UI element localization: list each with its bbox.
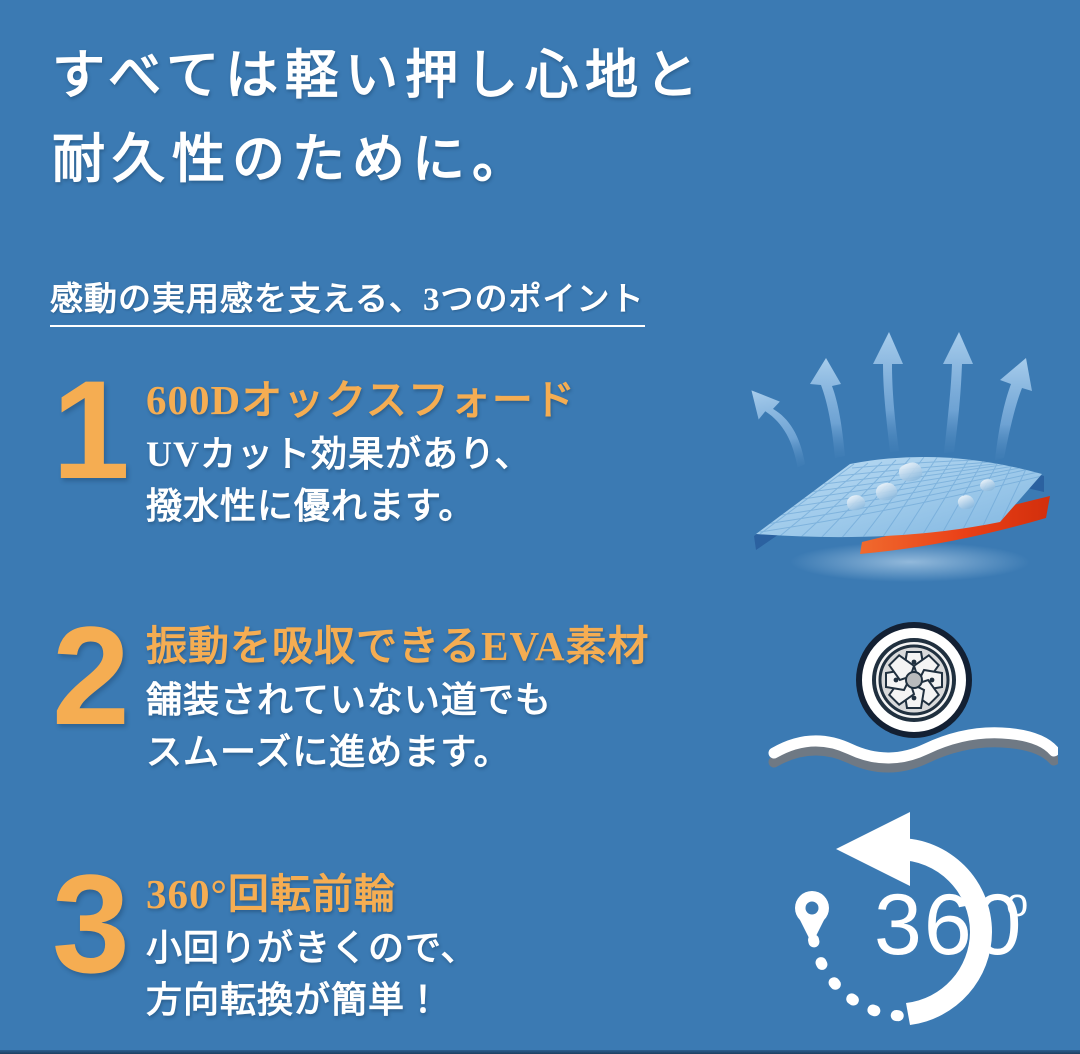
point-number-2: 2 bbox=[52, 614, 122, 738]
point-body-3-line-1: 小回りがきくので、 bbox=[146, 922, 478, 974]
point-number-1: 1 bbox=[52, 368, 122, 492]
rotation-label: 360 bbox=[874, 877, 1024, 973]
wheel-icon bbox=[859, 625, 969, 735]
point-text-1: 600Dオックスフォード UVカット効果があり、 撥水性に優れます。 bbox=[146, 368, 576, 532]
point-text-2: 振動を吸収できるEVA素材 舗装されていない道でも スムーズに進めます。 bbox=[146, 614, 649, 778]
point-number-3: 3 bbox=[52, 862, 122, 986]
bottom-divider bbox=[0, 1050, 1080, 1054]
point-body-2: 舗装されていない道でも スムーズに進めます。 bbox=[146, 674, 649, 778]
feature-panel: すべては軽い押し心地と 耐久性のために。 感動の実用感を支える、3つのポイント … bbox=[0, 0, 1080, 1054]
point-body-1-line-1: UVカット効果があり、 bbox=[146, 428, 576, 480]
headline-line-1: すべては軽い押し心地と bbox=[52, 34, 912, 118]
point-title-3: 360°回転前輪 bbox=[146, 870, 478, 918]
point-title-1: 600Dオックスフォード bbox=[146, 376, 576, 424]
point-body-3-line-2: 方向転換が簡単！ bbox=[146, 974, 478, 1026]
breathability-arrows bbox=[751, 332, 1032, 473]
wheel-on-wavy-road-icon bbox=[768, 612, 1058, 802]
pin-marker bbox=[795, 891, 829, 944]
point-title-2: 振動を吸収できるEVA素材 bbox=[146, 622, 649, 670]
page-headline: すべては軽い押し心地と 耐久性のために。 bbox=[52, 34, 912, 202]
headline-line-2: 耐久性のために。 bbox=[52, 118, 912, 202]
point-body-1-line-2: 撥水性に優れます。 bbox=[146, 480, 576, 532]
point-body-1: UVカット効果があり、 撥水性に優れます。 bbox=[146, 428, 576, 532]
rotation-360-icon: 360 o bbox=[778, 804, 1068, 1042]
degree-symbol: o bbox=[1006, 881, 1028, 925]
point-text-3: 360°回転前輪 小回りがきくので、 方向転換が簡単！ bbox=[146, 862, 478, 1026]
feature-point-3: 3 360°回転前輪 小回りがきくので、 方向転換が簡単！ bbox=[52, 862, 478, 1026]
point-body-3: 小回りがきくので、 方向転換が簡単！ bbox=[146, 922, 478, 1026]
point-body-2-line-2: スムーズに進めます。 bbox=[146, 726, 649, 778]
water-repellent-fabric-illustration bbox=[742, 306, 1072, 596]
point-body-2-line-1: 舗装されていない道でも bbox=[146, 674, 649, 726]
feature-point-2: 2 振動を吸収できるEVA素材 舗装されていない道でも スムーズに進めます。 bbox=[52, 614, 649, 778]
subheading: 感動の実用感を支える、3つのポイント bbox=[50, 281, 645, 327]
feature-point-1: 1 600Dオックスフォード UVカット効果があり、 撥水性に優れます。 bbox=[52, 368, 576, 532]
